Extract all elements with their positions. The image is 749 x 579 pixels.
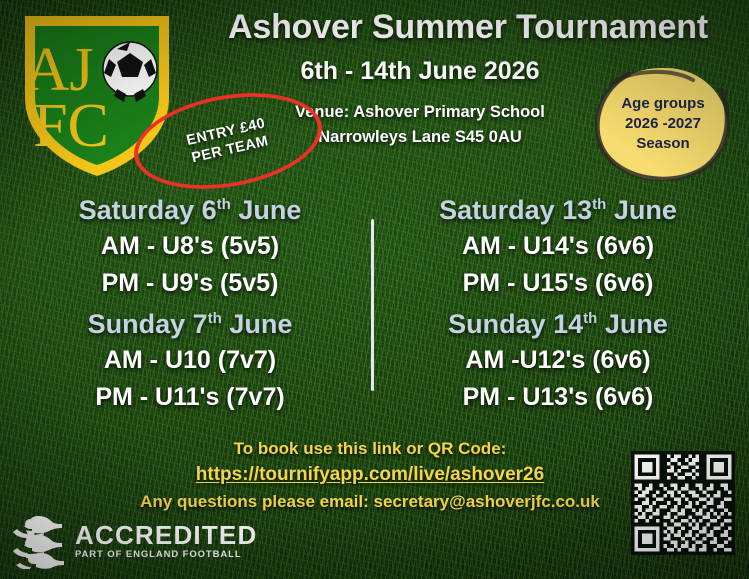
schedule-slot: AM - U14's (6v6) — [382, 228, 734, 265]
poster-title: Ashover Summer Tournament — [190, 8, 746, 47]
day-ordinal-suffix: th — [208, 310, 222, 327]
schedule-slot: PM - U15's (6v6) — [382, 265, 734, 302]
crest-initials-fc: FC — [33, 92, 109, 160]
schedule-column-right: Saturday 13th June AM - U14's (6v6) PM -… — [382, 192, 734, 416]
schedule-day-header: Saturday 13th June — [382, 192, 734, 228]
schedule-slot: AM - U8's (5v5) — [14, 228, 366, 265]
booking-info: To book use this link or QR Code: https:… — [120, 436, 620, 515]
age-groups-badge: Age groups 2026 -2027 Season — [593, 66, 733, 181]
day-ordinal-suffix: th — [592, 196, 606, 213]
schedule-day-header: Sunday 14th June — [382, 306, 734, 342]
schedule-slot: AM -U12's (6v6) — [382, 342, 734, 379]
booking-heading: To book use this link or QR Code: — [120, 436, 620, 461]
schedule-column-divider — [371, 219, 374, 391]
poster-dates: 6th - 14th June 2026 — [190, 57, 650, 86]
accredited-title: ACCREDITED — [75, 522, 257, 549]
tournament-poster: AJ FC Ashover Summer Tournament 6th - 14… — [0, 0, 749, 579]
age-badge-line-2: 2026 -2027 — [625, 115, 701, 132]
day-month: June — [605, 309, 668, 339]
booking-url-link[interactable]: https://tournifyapp.com/live/ashover26 — [120, 461, 620, 488]
accredited-subtitle: PART OF ENGLAND FOOTBALL — [75, 549, 257, 561]
schedule-slot: AM - U10 (7v7) — [14, 342, 366, 379]
day-label: Saturday 13 — [439, 195, 592, 225]
day-month: June — [238, 195, 301, 225]
age-badge-line-1: Age groups — [621, 95, 704, 112]
schedule-slot: PM - U11's (7v7) — [14, 379, 366, 416]
three-lions-icon — [8, 513, 66, 569]
age-badge-text: Age groups 2026 -2027 Season — [593, 66, 733, 181]
booking-qr-code[interactable] — [631, 451, 735, 555]
schedule-column-left: Saturday 6th June AM - U8's (5v5) PM - U… — [14, 192, 366, 416]
day-label: Sunday 7 — [88, 309, 208, 339]
schedule-day-header: Sunday 7th June — [14, 306, 366, 342]
day-month: June — [229, 309, 292, 339]
schedule-slot: PM - U9's (5v5) — [14, 265, 366, 302]
day-label: Sunday 14 — [448, 309, 583, 339]
schedule-slot: PM - U13's (6v6) — [382, 379, 734, 416]
day-ordinal-suffix: th — [583, 310, 597, 327]
england-football-accredited-badge: ACCREDITED PART OF ENGLAND FOOTBALL — [8, 510, 234, 572]
schedule-day-header: Saturday 6th June — [14, 192, 366, 228]
day-label: Saturday 6 — [79, 195, 217, 225]
day-month: June — [614, 195, 677, 225]
day-ordinal-suffix: th — [217, 196, 231, 213]
age-badge-line-3: Season — [636, 135, 689, 152]
accredited-wordmark: ACCREDITED PART OF ENGLAND FOOTBALL — [75, 522, 257, 561]
